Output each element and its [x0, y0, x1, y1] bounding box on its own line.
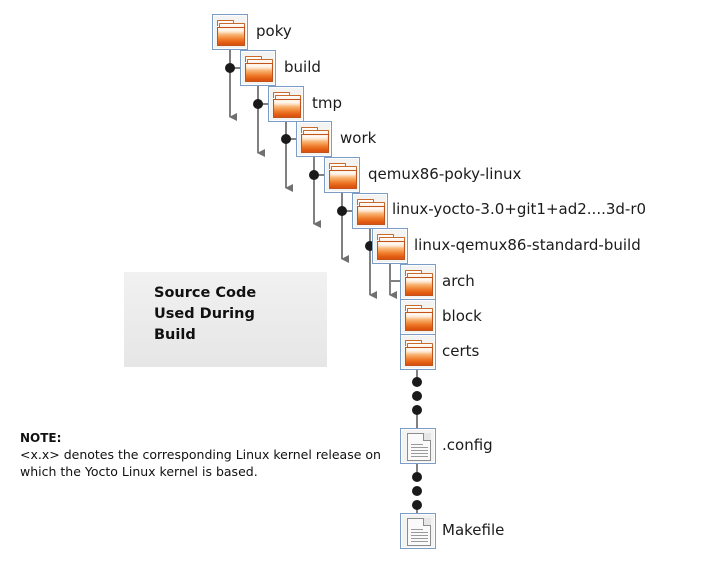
folder-icon — [372, 228, 408, 264]
node-certs[interactable] — [400, 334, 436, 370]
folder-icon — [400, 299, 436, 335]
node-work[interactable] — [296, 121, 332, 157]
label-block: block — [442, 307, 482, 325]
node-linux-qemux86-standard-build[interactable] — [372, 228, 408, 264]
folder-icon — [400, 334, 436, 370]
folder-icon — [296, 121, 332, 157]
node-qemux86-poky-linux[interactable] — [324, 157, 360, 193]
label-work: work — [340, 129, 376, 147]
label-build: build — [284, 58, 321, 76]
note-title: NOTE: — [20, 430, 390, 446]
document-icon — [400, 513, 436, 549]
label-linux-yocto: linux-yocto-3.0+git1+ad2....3d-r0 — [392, 200, 646, 218]
node-arch[interactable] — [400, 264, 436, 300]
note-body: <x.x> denotes the corresponding Linux ke… — [20, 446, 390, 480]
folder-icon — [324, 157, 360, 193]
node-poky[interactable] — [212, 14, 248, 50]
label-config: .config — [442, 436, 493, 454]
source-code-callout: Source Code Used During Build — [124, 272, 327, 367]
label-poky: poky — [256, 22, 292, 40]
folder-icon — [268, 86, 304, 122]
node-makefile[interactable] — [400, 513, 436, 549]
label-qemux86-poky-linux: qemux86-poky-linux — [368, 165, 521, 183]
label-certs: certs — [442, 342, 479, 360]
node-linux-yocto[interactable] — [352, 193, 388, 229]
diagram-canvas: poky build tmp work qemux86-poky-linux l… — [0, 0, 705, 581]
node-build[interactable] — [240, 50, 276, 86]
folder-icon — [352, 193, 388, 229]
folder-icon — [240, 50, 276, 86]
node-tmp[interactable] — [268, 86, 304, 122]
node-block[interactable] — [400, 299, 436, 335]
label-tmp: tmp — [312, 94, 342, 112]
document-icon — [400, 428, 436, 464]
label-makefile: Makefile — [442, 521, 504, 539]
callout-text: Source Code Used During Build — [154, 283, 256, 346]
node-config[interactable] — [400, 428, 436, 464]
folder-icon — [400, 264, 436, 300]
note-block: NOTE: <x.x> denotes the corresponding Li… — [20, 430, 390, 480]
connector-lines — [0, 0, 705, 581]
folder-icon — [212, 14, 248, 50]
label-linux-qemux86-standard-build: linux-qemux86-standard-build — [414, 236, 641, 254]
label-arch: arch — [442, 272, 475, 290]
